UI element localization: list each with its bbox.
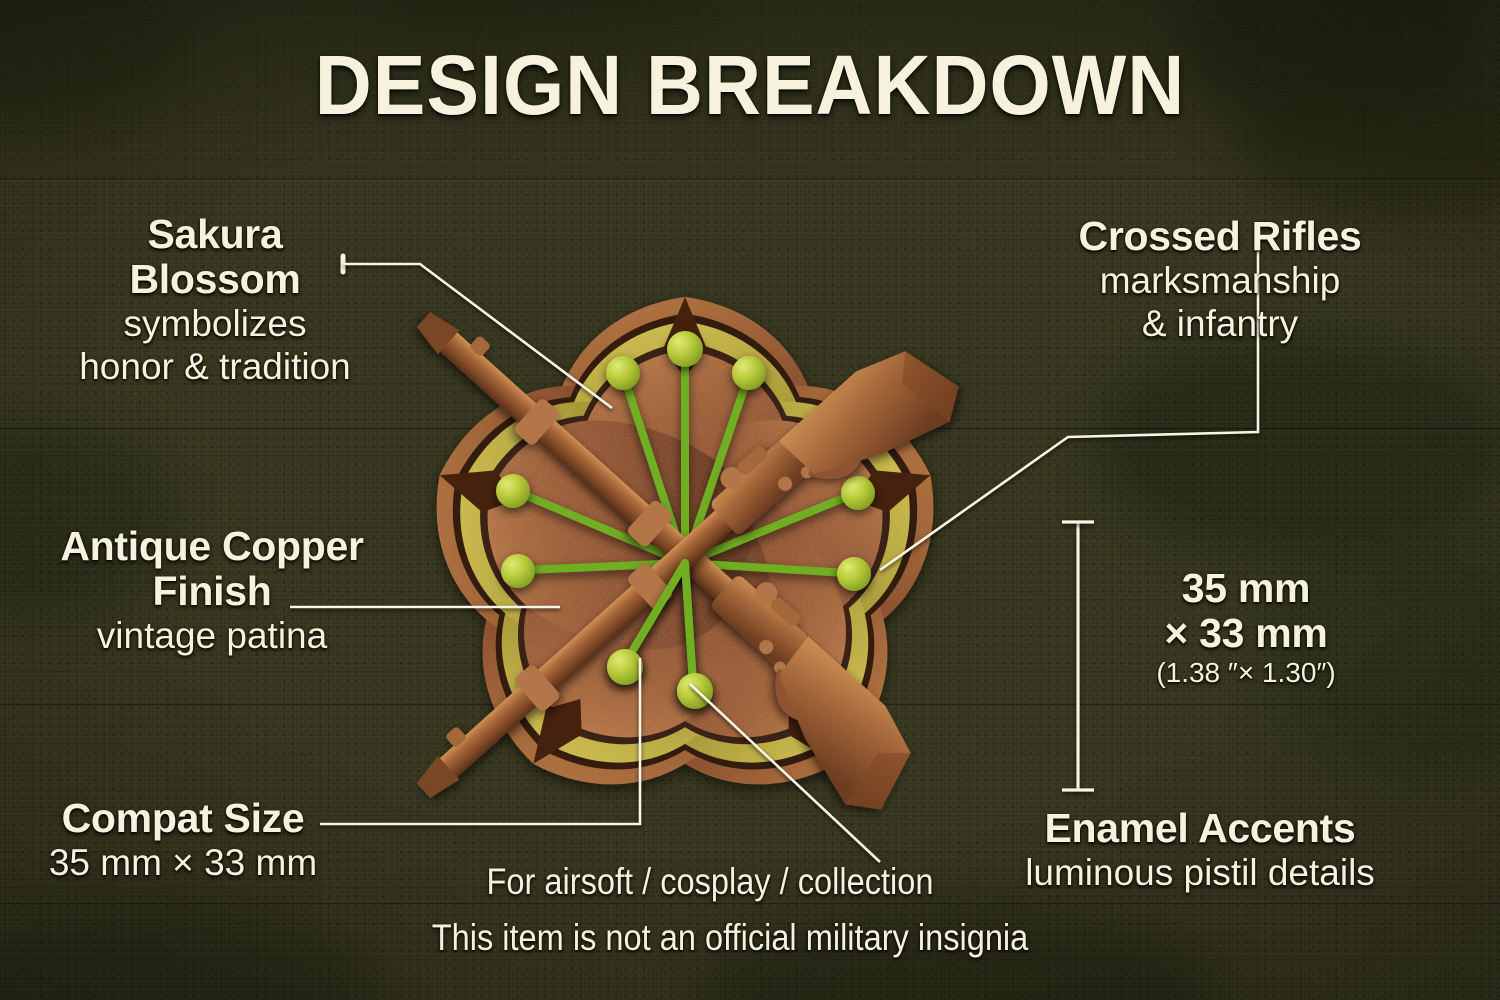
footer-disclaimer: This item is not an official military in… <box>378 916 1082 959</box>
footer-usage: For airsoft / cosplay / collection <box>420 860 1001 903</box>
sakura-heading-line1: Sakura <box>40 212 390 257</box>
annotation-crossed-rifles: Crossed Rifles marksmanship & infantry <box>1040 214 1400 345</box>
enamel-heading: Enamel Accents <box>990 806 1410 851</box>
dimension-line1: 35 mm <box>1096 566 1396 611</box>
annotation-antique-copper: Antique Copper Finish vintage patina <box>22 524 402 657</box>
compat-subtext: 35 mm × 33 mm <box>18 841 348 884</box>
dimension-label: 35 mm × 33 mm (1.38 ″× 1.30″) <box>1096 566 1396 690</box>
rifles-heading: Crossed Rifles <box>1040 214 1400 259</box>
footer-disclaimer-text: This item is not an official military in… <box>378 916 1082 959</box>
annotation-enamel-accents: Enamel Accents luminous pistil details <box>990 806 1410 894</box>
compat-leader-line <box>320 658 640 824</box>
sakura-heading-line2: Blossom <box>40 257 390 302</box>
annotation-compat-size: Compat Size 35 mm × 33 mm <box>18 796 348 884</box>
rifles-subtext-line2: & infantry <box>1040 302 1400 345</box>
annotation-sakura-blossom: Sakura Blossom symbolizes honor & tradit… <box>40 212 390 388</box>
footer-usage-text: For airsoft / cosplay / collection <box>420 860 1001 903</box>
sakura-subtext-line1: symbolizes <box>40 302 390 345</box>
copper-subtext: vintage patina <box>22 614 402 657</box>
sakura-subtext-line2: honor & tradition <box>40 345 390 388</box>
copper-heading-line2: Finish <box>22 569 402 614</box>
enamel-leader-line <box>690 684 880 862</box>
dimension-line2: × 33 mm <box>1096 611 1396 656</box>
enamel-subtext: luminous pistil details <box>990 851 1410 894</box>
compat-heading: Compat Size <box>18 796 348 841</box>
dimension-line3: (1.38 ″× 1.30″) <box>1096 656 1396 690</box>
rifles-subtext-line1: marksmanship <box>1040 259 1400 302</box>
copper-heading-line1: Antique Copper <box>22 524 402 569</box>
poster-canvas: DESIGN BREAKDOWN <box>0 0 1500 1000</box>
